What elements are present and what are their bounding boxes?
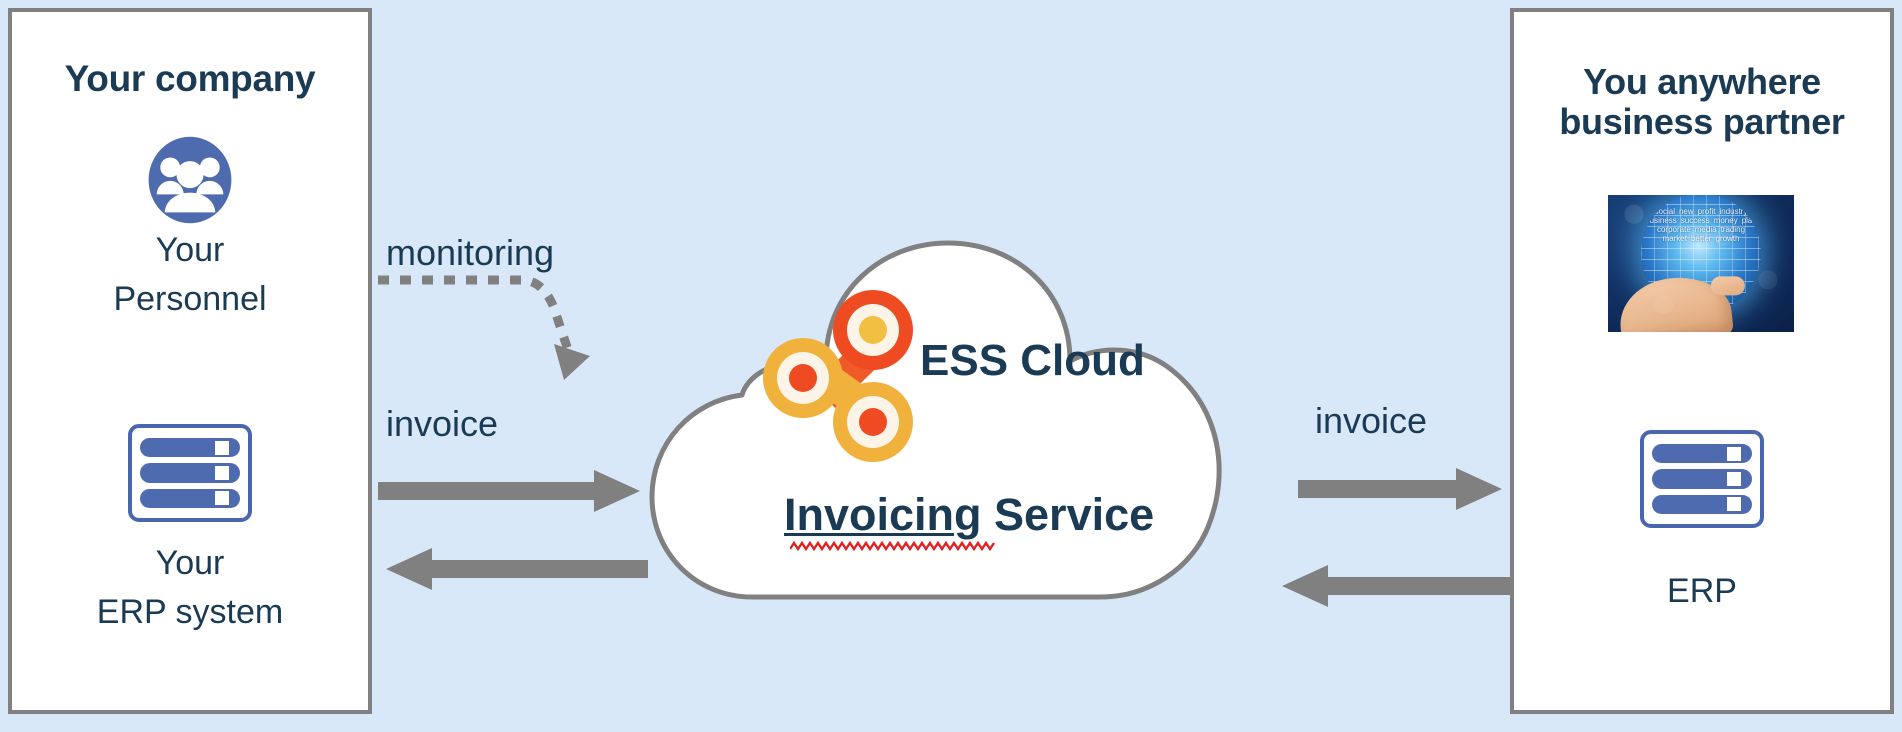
your-company-panel: Your company Your Personnel [8, 8, 372, 714]
invoice-return-arrow-to-cloud [1274, 565, 1510, 609]
server-bar-2 [140, 463, 240, 482]
business-partner-panel: You anywhere business partner socialnewp… [1510, 8, 1894, 714]
your-personnel-label-line1: Your [12, 226, 368, 274]
invoice-arrow-to-cloud [378, 470, 648, 514]
business-partner-title-line2: business partner [1514, 102, 1890, 142]
server-led-icon [215, 441, 229, 455]
global-business-wordcloud-photo: socialnewprofitindustrybusinesssuccessmo… [1608, 195, 1794, 332]
server-bar-1 [1652, 444, 1752, 463]
server-bar-2 [1652, 469, 1752, 488]
business-partner-title: You anywhere business partner [1514, 62, 1890, 143]
monitoring-label: monitoring [386, 232, 554, 274]
server-led-icon [215, 491, 229, 505]
server-led-icon [215, 466, 229, 480]
monitoring-dotted-arrow [376, 272, 606, 382]
server-bar-3 [140, 489, 240, 508]
invoicing-word: Invoicing [784, 489, 982, 540]
server-led-icon [1727, 472, 1741, 486]
server-led-icon [1727, 497, 1741, 511]
people-group-icon [118, 135, 262, 225]
spellcheck-squiggle-icon [790, 540, 1002, 552]
server-led-icon [1727, 447, 1741, 461]
ess-cloud-label: ESS Cloud [920, 336, 1145, 386]
your-personnel-label-line2: Personnel [12, 275, 368, 323]
invoice-return-arrow-to-erp [378, 548, 648, 592]
business-partner-title-line1: You anywhere [1514, 62, 1890, 102]
diagram-canvas: Your company Your Personnel [0, 0, 1902, 732]
ess-cloud-shape [630, 205, 1280, 635]
server-bar-1 [140, 438, 240, 457]
invoice-label-right: invoice [1315, 400, 1427, 442]
server-bar-3 [1652, 495, 1752, 514]
invoicing-service-label: Invoicing Service [784, 489, 1154, 541]
server-rack-icon [1640, 430, 1764, 528]
invoice-label-left: invoice [386, 403, 498, 445]
server-rack-icon [128, 424, 252, 522]
invoice-arrow-to-partner [1298, 468, 1508, 512]
your-company-title: Your company [12, 58, 368, 99]
your-erp-label-line1: Your [12, 539, 368, 587]
ess-chain-link-logo [755, 286, 935, 466]
service-word: Service [982, 489, 1155, 540]
partner-erp-label: ERP [1514, 567, 1890, 615]
your-erp-label-line2: ERP system [12, 588, 368, 636]
photo-watermark-overlay [1608, 195, 1794, 332]
